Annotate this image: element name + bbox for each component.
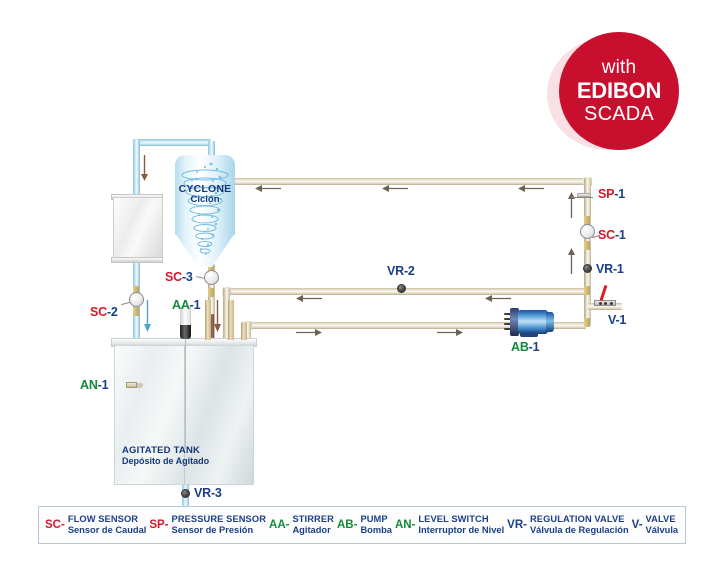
cyclone-vortex-graphic xyxy=(175,155,235,267)
stirrer-motor-cap xyxy=(180,325,191,339)
tag-vr-3: VR-3 xyxy=(194,486,222,500)
tank-probe-dark xyxy=(211,314,214,338)
legend-text-an: LEVEL SWITCH Interruptor de Nivel xyxy=(418,514,504,535)
flow-arrow-bottom-2 xyxy=(437,328,463,337)
tank-label-es: Depósito de Agitado xyxy=(122,456,209,467)
fitting-riser-bottom xyxy=(584,318,590,327)
flow-sensor-sc3-symbol xyxy=(204,270,219,285)
legend-code-ab: AB- xyxy=(337,519,357,531)
legend-es-an: Interruptor de Nivel xyxy=(418,525,504,536)
legend-text-sc: FLOW SENSOR Sensor de Caudal xyxy=(68,514,147,535)
tank-label-en: AGITATED TANK xyxy=(122,445,209,456)
flow-arrow-riser-up-2 xyxy=(567,248,576,274)
legend-es-sp: Sensor de Presión xyxy=(172,525,267,536)
legend-text-v: VALVE Válvula xyxy=(646,514,679,535)
tag-v-1: V-1 xyxy=(608,313,626,327)
stirrer-shaft xyxy=(185,339,186,449)
fitting-sc2-lower xyxy=(133,307,139,316)
legend-en-aa: STIRRER xyxy=(292,514,334,525)
valve-v1-bolt-3 xyxy=(610,302,613,305)
flow-arrow-down-underflow xyxy=(213,300,222,332)
badge-product-label: SCADA xyxy=(584,104,654,124)
legend-item-flow-sensor: SC- FLOW SENSOR Sensor de Caudal xyxy=(45,514,146,535)
tag-aa-1: AA-1 xyxy=(172,298,200,312)
flow-arrow-top-3 xyxy=(518,184,544,193)
flow-sensor-sc2-symbol xyxy=(129,292,144,307)
legend-item-level-switch: AN- LEVEL SWITCH Interruptor de Nivel xyxy=(395,514,504,535)
rotameter-column xyxy=(113,197,163,261)
diagram-canvas: with EDIBON SCADA xyxy=(0,0,723,584)
legend-item-stirrer: AA- STIRRER Agitador xyxy=(269,514,334,535)
badge-with-label: with xyxy=(602,58,637,77)
edibon-scada-badge: with EDIBON SCADA xyxy=(547,32,681,156)
regulation-valve-vr1-symbol xyxy=(583,264,592,273)
legend-code-an: AN- xyxy=(395,519,415,531)
legend-en-vr: REGULATION VALVE xyxy=(530,514,629,525)
legend-es-vr: Válvula de Regulación xyxy=(530,525,629,536)
valve-v1-bolt-1 xyxy=(599,302,602,305)
regulation-valve-vr2-symbol xyxy=(397,284,406,293)
cyclone-label-es: Ciclón xyxy=(175,195,235,206)
legend-item-pump: AB- PUMP Bomba xyxy=(337,514,392,535)
legend-en-ab: PUMP xyxy=(360,514,392,525)
level-switch-tip xyxy=(137,383,143,388)
legend-code-sc: SC- xyxy=(45,519,65,531)
tag-sc-1: SC-1 xyxy=(598,228,626,242)
flow-arrow-down-rotameter xyxy=(140,155,149,181)
flow-arrow-bottom-1 xyxy=(296,328,322,337)
leader-sp1 xyxy=(571,197,593,198)
legend-code-vr: VR- xyxy=(507,519,527,531)
tag-vr-2: VR-2 xyxy=(387,264,415,278)
flow-arrow-middle-2 xyxy=(485,294,511,303)
legend-code-aa: AA- xyxy=(269,519,289,531)
legend-code-v: V- xyxy=(632,519,643,531)
legend-item-regulation-valve: VR- REGULATION VALVE Válvula de Regulaci… xyxy=(507,514,629,535)
pump-base xyxy=(520,333,538,337)
regulation-valve-vr3-symbol xyxy=(181,489,190,498)
rotameter-bottom-cap xyxy=(111,257,163,263)
legend-item-valve: V- VALVE Válvula xyxy=(632,514,678,535)
leader-sc2 xyxy=(121,302,130,305)
tag-ab-1: AB-1 xyxy=(511,340,539,354)
legend-en-an: LEVEL SWITCH xyxy=(418,514,504,525)
pipe-bottom-suction xyxy=(245,322,513,329)
fitting-sc1-lower xyxy=(584,241,590,250)
legend-text-sp: PRESSURE SENSOR Sensor de Presión xyxy=(172,514,267,535)
pump-body xyxy=(518,310,548,334)
flow-arrow-down-to-tank xyxy=(143,300,152,332)
level-switch-body xyxy=(126,382,137,388)
pipe-blue-top xyxy=(133,139,211,146)
legend-en-v: VALVE xyxy=(646,514,679,525)
badge-disc: with EDIBON SCADA xyxy=(559,32,679,150)
legend-text-aa: STIRRER Agitador xyxy=(292,514,334,535)
legend-bar: SC- FLOW SENSOR Sensor de Caudal SP- PRE… xyxy=(38,506,686,544)
fitting-sc3-lower xyxy=(208,288,214,297)
legend-en-sc: FLOW SENSOR xyxy=(68,514,147,525)
pump-end-cap xyxy=(546,312,554,332)
valve-v1-handle[interactable] xyxy=(600,285,608,301)
tag-sp-1: SP-1 xyxy=(598,187,625,201)
badge-brand-label: EDIBON xyxy=(577,80,661,102)
legend-es-ab: Bomba xyxy=(360,525,392,536)
legend-es-sc: Sensor de Caudal xyxy=(68,525,147,536)
cyclone-label-group: CYCLONE Ciclón xyxy=(175,183,235,206)
legend-es-aa: Agitador xyxy=(292,525,334,536)
legend-text-vr: REGULATION VALVE Válvula de Regulación xyxy=(530,514,629,535)
flow-arrow-middle-1 xyxy=(296,294,322,303)
fitting-riser-tee xyxy=(584,286,590,295)
legend-text-ab: PUMP Bomba xyxy=(360,514,392,535)
pipe-pump-discharge xyxy=(552,322,586,329)
tank-nozzle-return xyxy=(241,322,247,340)
valve-v1-bolt-2 xyxy=(604,302,607,305)
tag-sc-3: SC-3 xyxy=(165,270,193,284)
legend-code-sp: SP- xyxy=(149,519,168,531)
flow-arrow-riser-up-1 xyxy=(567,192,576,218)
legend-item-pressure-sensor: SP- PRESSURE SENSOR Sensor de Presión xyxy=(149,514,266,535)
tank-label-group: AGITATED TANK Depósito de Agitado xyxy=(122,445,209,467)
flow-arrow-top-1 xyxy=(255,184,281,193)
tank-nozzle-probe-right xyxy=(228,300,234,340)
tag-sc-2: SC-2 xyxy=(90,305,118,319)
legend-es-v: Válvula xyxy=(646,525,679,536)
pipe-blue-down-to-rotameter xyxy=(133,139,140,197)
cyclone-vessel: CYCLONE Ciclón xyxy=(175,155,235,267)
tag-vr-1: VR-1 xyxy=(596,262,624,276)
legend-en-sp: PRESSURE SENSOR xyxy=(172,514,267,525)
tag-an-1: AN-1 xyxy=(80,378,108,392)
flow-arrow-top-2 xyxy=(382,184,408,193)
